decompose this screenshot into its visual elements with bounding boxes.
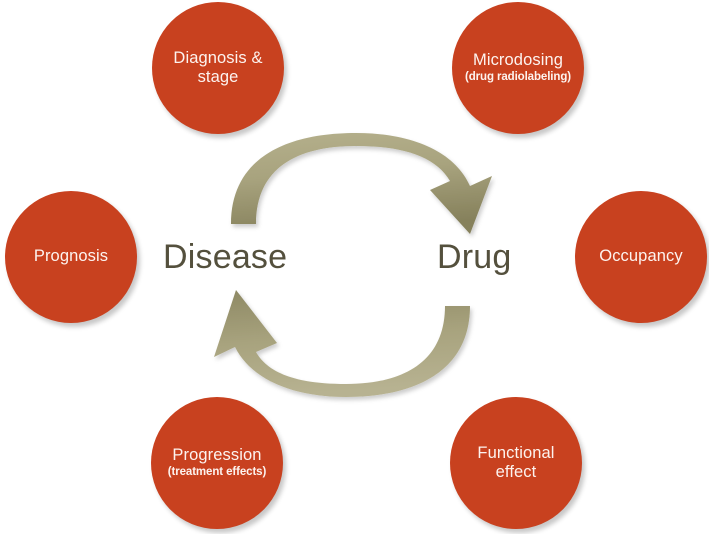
arrow-drug-to-disease [214, 290, 470, 397]
node-occupancy-label-line1: Occupancy [599, 247, 682, 266]
node-functional-label-line2: effect [496, 463, 537, 482]
arrow-disease-to-drug [231, 133, 492, 234]
node-microdosing-label-line1: Microdosing [473, 51, 563, 70]
node-progression-label-line1: Progression [172, 446, 261, 465]
cycle-diagram-canvas: Drug (right), clockwise over the top -->… [0, 0, 709, 534]
node-prognosis[interactable]: Prognosis [5, 191, 137, 323]
node-diagnosis-label-line2: stage [198, 68, 239, 87]
node-functional-label-line1: Functional [477, 444, 554, 463]
node-occupancy[interactable]: Occupancy [575, 191, 707, 323]
node-progression-sublabel: (treatment effects) [168, 466, 266, 480]
node-functional-effect[interactable]: Functional effect [450, 397, 582, 529]
node-microdosing[interactable]: Microdosing (drug radiolabeling) [452, 2, 584, 134]
node-progression[interactable]: Progression (treatment effects) [151, 397, 283, 529]
center-node-disease: Disease [163, 238, 287, 277]
node-diagnosis-stage[interactable]: Diagnosis & stage [152, 2, 284, 134]
center-node-drug: Drug [437, 238, 512, 277]
node-diagnosis-label-line1: Diagnosis & [173, 49, 262, 68]
node-prognosis-label-line1: Prognosis [34, 247, 108, 266]
node-microdosing-sublabel: (drug radiolabeling) [465, 71, 571, 85]
